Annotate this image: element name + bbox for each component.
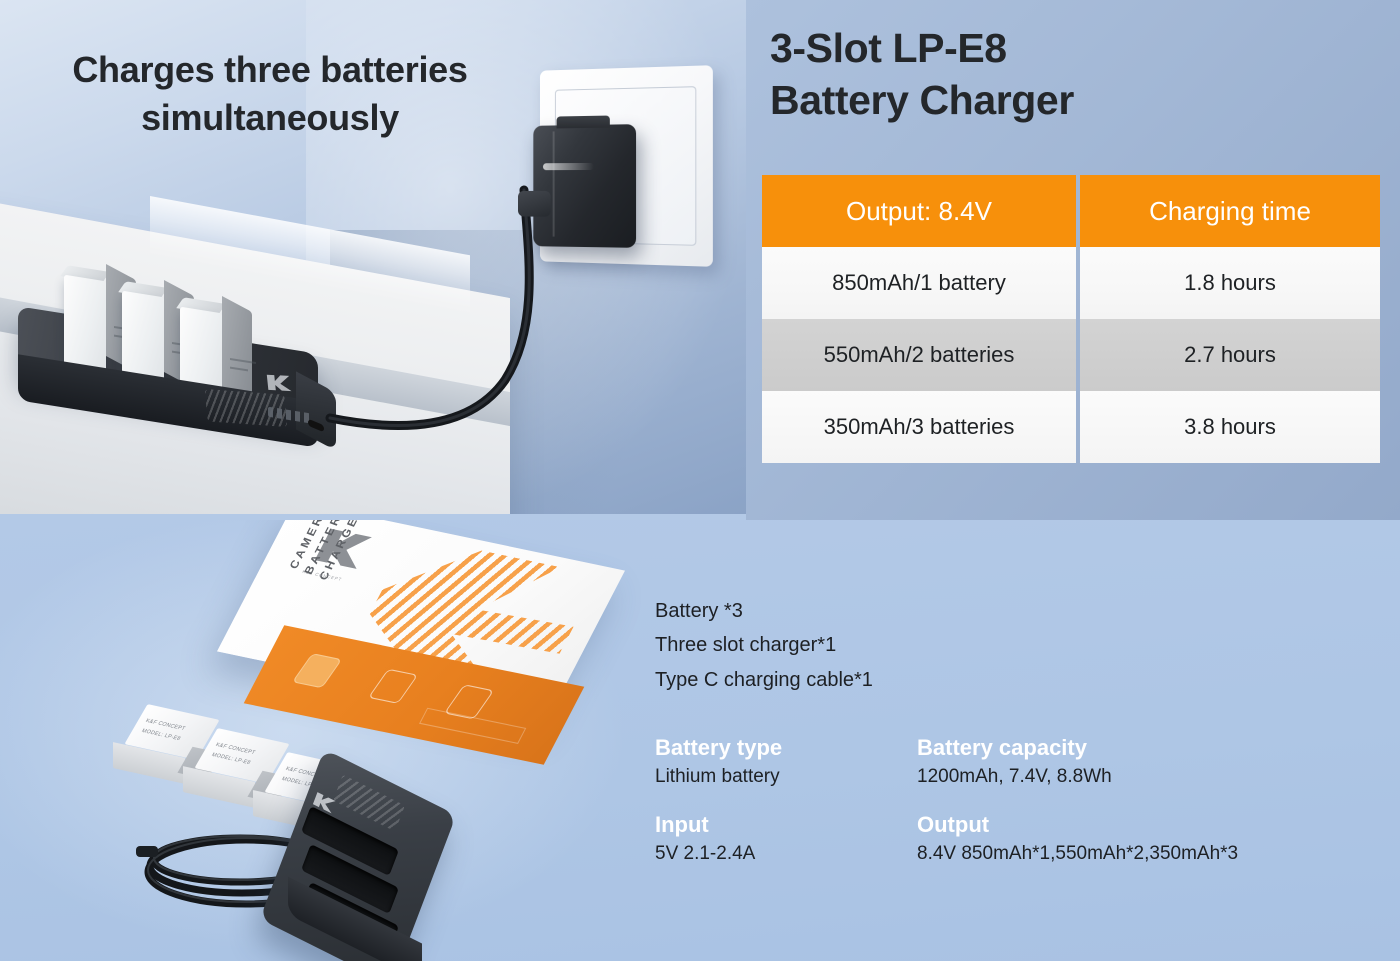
three-slot-charger-unboxed [292,782,522,961]
table-cell-time: 1.8 hours [1080,247,1380,319]
spec-value: 1200mAh, 7.4V, 8.8Wh [917,766,1112,788]
adapter-top-edge [557,116,610,129]
usb-power-adapter [533,124,636,248]
table-cell-output: 850mAh/1 battery [762,247,1076,319]
spec-output: Output 8.4V 850mAh*1,550mAh*2,350mAh*3 [917,812,1238,865]
table-header-charging-time: Charging time [1080,175,1380,247]
spec-row: Battery type Lithium battery Battery cap… [655,735,1375,788]
table-cell-output: 350mAh/3 batteries [762,391,1076,463]
table-cell-output: 550mAh/2 batteries [762,319,1076,391]
table-row: 850mAh/1 battery 1.8 hours [762,247,1380,319]
battery-front-face [64,275,106,374]
headline-line-2: simultaneously [0,94,540,142]
three-slot-charger [18,330,338,440]
product-specifications: Battery type Lithium battery Battery cap… [655,735,1375,889]
table-header-output: Output: 8.4V [762,175,1076,247]
infographic-page: Charges three batteries simultaneously 3… [0,0,1400,961]
package-contents-list: Battery *3 Three slot charger*1 Type C c… [655,594,873,697]
adapter-highlight [543,163,594,170]
panel-title-and-table: 3-Slot LP-E8 Battery Charger Output: 8.4… [746,0,1400,520]
spec-row: Input 5V 2.1-2.4A Output 8.4V 850mAh*1,5… [655,812,1375,865]
page-headline: Charges three batteries simultaneously [0,46,540,141]
table-cell-time: 2.7 hours [1080,319,1380,391]
contents-item: Battery *3 [655,594,873,628]
usb-c-connector [136,846,158,857]
box-feature-icons [292,653,494,719]
spec-label: Battery type [655,735,917,761]
adapter-seam [553,131,554,236]
panel-charging-scene: Charges three batteries simultaneously [0,0,746,514]
table-row: 550mAh/2 batteries 2.7 hours [762,319,1380,391]
panel-package-contents: K&F CONCEPT CAMERA BATTERY & CHARGER [0,520,1400,961]
contents-item: Three slot charger*1 [655,628,873,662]
table-header-row: Output: 8.4V Charging time [762,175,1380,247]
charging-time-table: Output: 8.4V Charging time 850mAh/1 batt… [762,175,1380,463]
title-line-2: Battery Charger [770,74,1382,126]
spec-battery-type: Battery type Lithium battery [655,735,917,788]
spec-value: Lithium battery [655,766,917,788]
spec-value: 5V 2.1-2.4A [655,843,917,865]
spec-value: 8.4V 850mAh*1,550mAh*2,350mAh*3 [917,843,1238,865]
battery-icon [292,653,342,688]
kf-logo-icon [265,373,297,393]
adapter-usb-jack [518,191,551,217]
headline-line-1: Charges three batteries [0,46,540,94]
contents-item: Type C charging cable*1 [655,663,873,697]
spec-label: Battery capacity [917,735,1112,761]
spec-label: Output [917,812,1238,838]
table-cell-time: 3.8 hours [1080,391,1380,463]
spec-label: Input [655,812,917,838]
spec-input: Input 5V 2.1-2.4A [655,812,917,865]
spec-battery-capacity: Battery capacity 1200mAh, 7.4V, 8.8Wh [917,735,1112,788]
page-title: 3-Slot LP-E8 Battery Charger [770,22,1382,127]
led-indicator-icon [368,669,418,704]
table-row: 350mAh/3 batteries 3.8 hours [762,391,1380,463]
title-line-1: 3-Slot LP-E8 [770,22,1382,74]
